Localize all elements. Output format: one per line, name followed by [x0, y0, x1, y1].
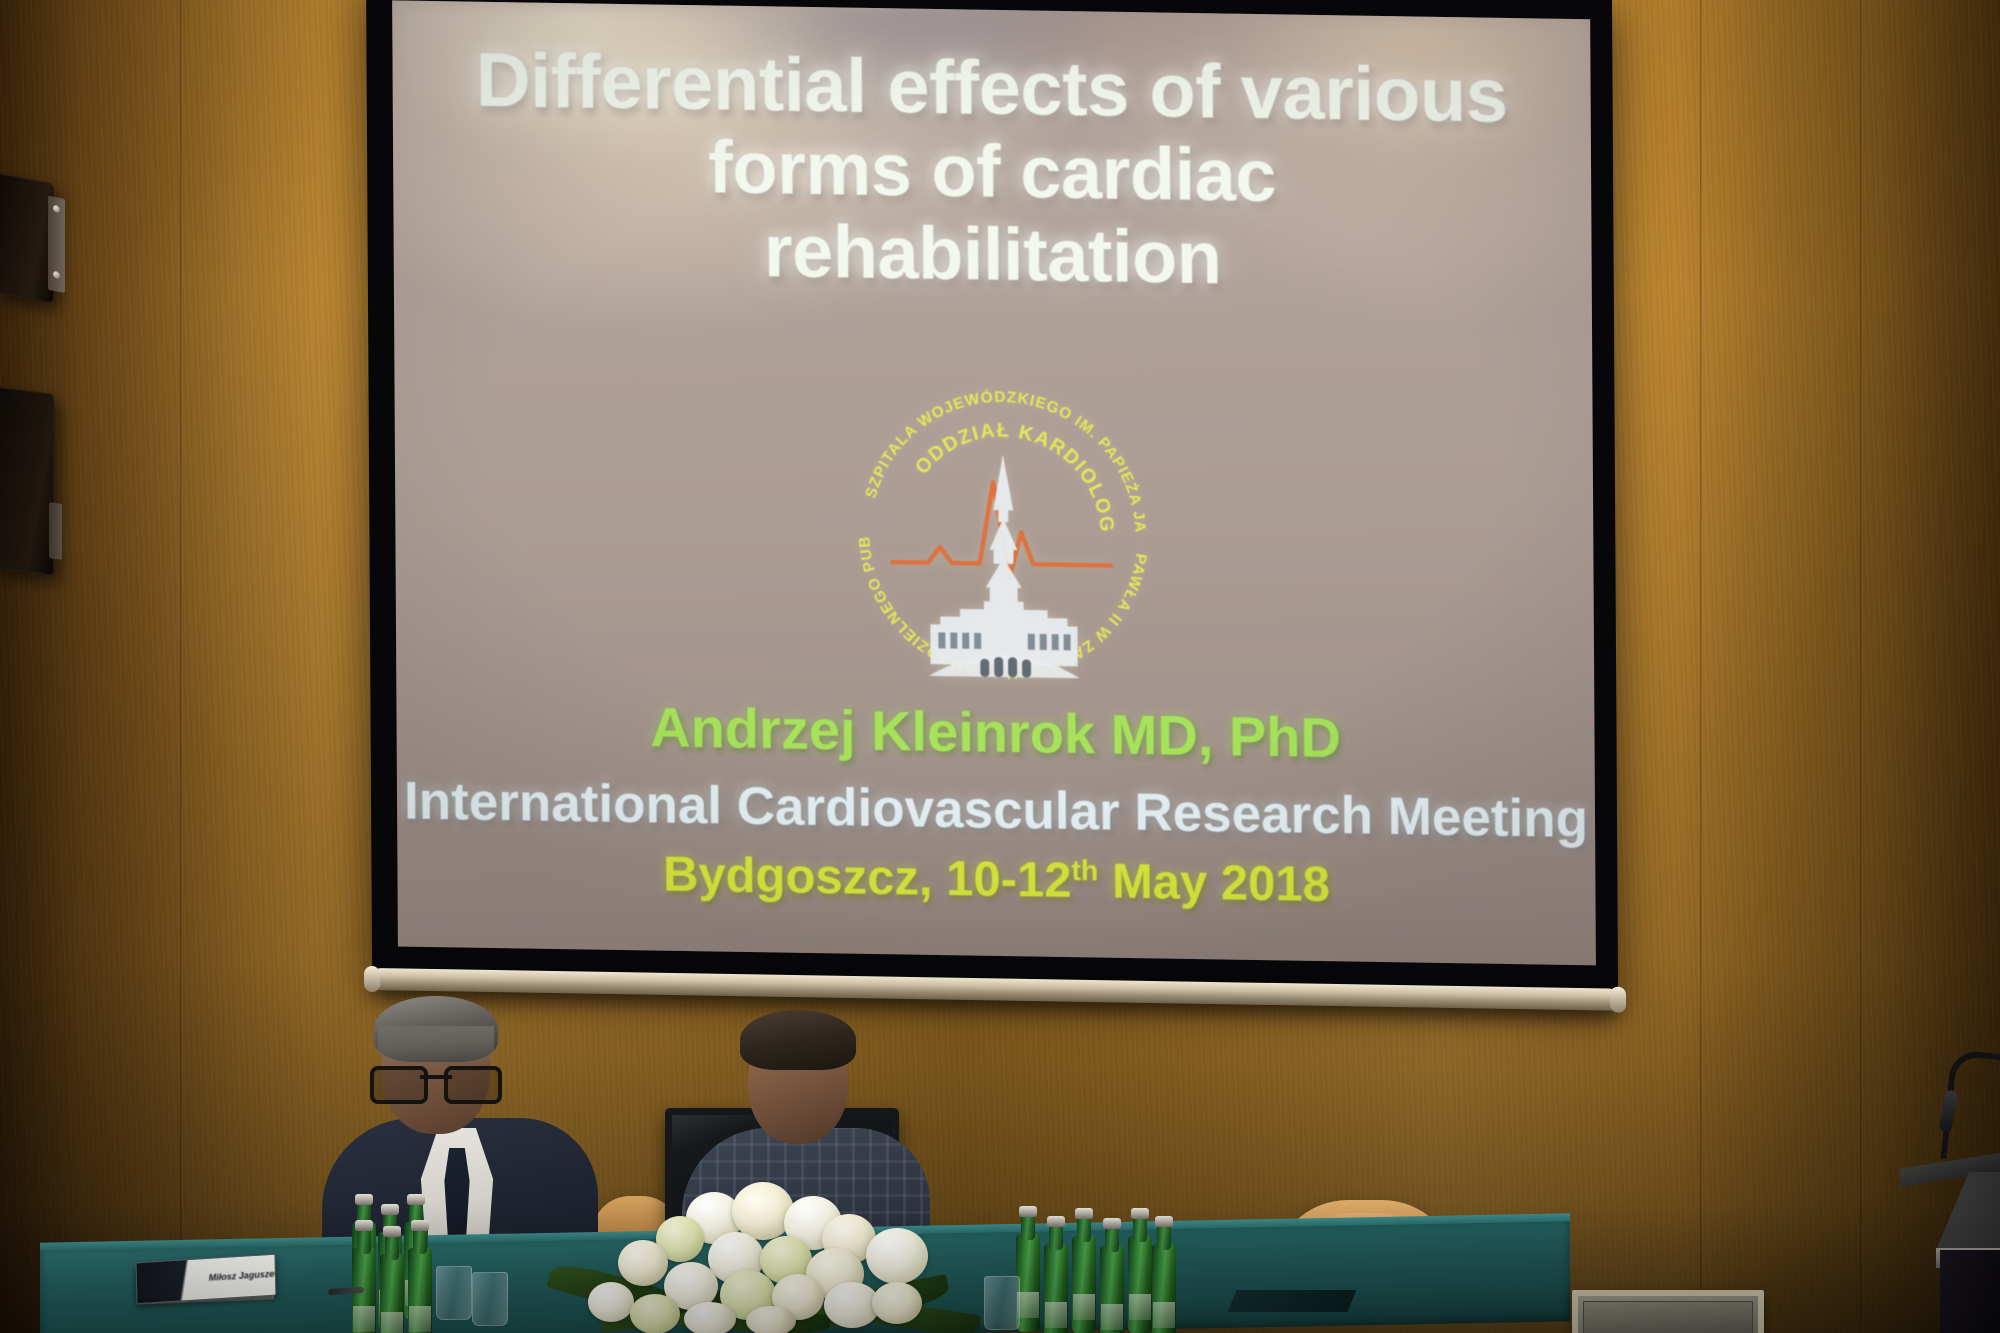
bottle-label: [1101, 1304, 1123, 1330]
bottle-label: [1129, 1294, 1151, 1320]
nameplate-logo: [143, 1266, 186, 1295]
water-bottle: [1044, 1244, 1068, 1333]
nameplate-name: Miłosz Jaguszewski: [209, 1267, 277, 1282]
roller-end-cap: [1610, 987, 1626, 1013]
water-bottle: [1152, 1244, 1176, 1333]
bottle-label: [409, 1306, 431, 1332]
lectern-body: [1936, 1172, 2000, 1250]
speaker-bracket: [48, 196, 65, 293]
picture-frame: [1572, 1290, 1764, 1333]
slide-event-name: International Cardiovascular Research Me…: [397, 770, 1595, 850]
bracket-screw: [53, 271, 60, 279]
white-rose: [684, 1302, 736, 1333]
calla-lily: [866, 1228, 928, 1284]
flower-arrangement: [560, 1170, 980, 1333]
screen-surface: Differential effects of various forms of…: [392, 0, 1596, 965]
slide-title-line-3: rehabilitation: [439, 205, 1545, 305]
bottle-label: [353, 1306, 375, 1332]
drinking-glass: [984, 1276, 1020, 1330]
projection-screen: Differential effects of various forms of…: [366, 0, 1618, 994]
conference-photo-scene: Differential effects of various forms of…: [0, 0, 2000, 1333]
water-bottle: [380, 1254, 404, 1333]
white-rose: [618, 1240, 668, 1286]
slide-place-prefix: Bydgoszcz, 10-12: [663, 848, 1072, 908]
logo-inner-arc-text: ODDZIAŁ KARDIOLOGII: [840, 363, 1118, 534]
slide-title-line-1: Differential effects of various: [438, 37, 1544, 139]
white-rose: [630, 1294, 680, 1333]
bottle-label: [381, 1312, 403, 1333]
bracket-screw: [53, 205, 60, 213]
picture-frame-inner: [1583, 1301, 1753, 1333]
slide-title: Differential effects of various forms of…: [392, 36, 1592, 306]
roller-end-cap: [364, 966, 380, 992]
drinking-glass: [472, 1272, 508, 1326]
white-rose: [746, 1306, 796, 1333]
hair: [374, 996, 498, 1062]
bottle-label: [1153, 1302, 1175, 1328]
dark-paper-item: [1228, 1290, 1357, 1312]
white-rose: [872, 1282, 922, 1324]
eyeglass-bridge: [420, 1075, 452, 1079]
speaker-bracket: [49, 502, 62, 560]
slide-place-suffix: May 2018: [1098, 855, 1330, 913]
water-bottle: [1128, 1236, 1152, 1333]
hair: [740, 1010, 856, 1070]
water-bottle: [1072, 1236, 1096, 1333]
dark-object-right: [1940, 1250, 2000, 1333]
eyeglass-lens-right: [444, 1066, 502, 1104]
slide-place-ordinal: th: [1071, 855, 1098, 887]
slide-presenter-name: Andrzej Kleinrok MD, PhD: [396, 690, 1594, 774]
water-bottle: [408, 1248, 432, 1333]
bottle-label: [1073, 1294, 1095, 1320]
loudspeaker-lower: [0, 386, 54, 576]
hospital-logo: SZPITALA WOJEWÓDZKIEGO IM. PAPIEŻA JANA …: [843, 380, 1163, 685]
bottle-label: [1017, 1292, 1039, 1318]
bottle-label: [1045, 1302, 1067, 1328]
eyeglasses: [370, 1066, 502, 1098]
slide-place-date: Bydgoszcz, 10-12th May 2018: [397, 843, 1595, 918]
name-plate: Miłosz Jaguszewski: [136, 1254, 277, 1305]
loudspeaker-upper: [0, 172, 54, 304]
drinking-glass: [436, 1266, 472, 1320]
presentation-slide: Differential effects of various forms of…: [392, 0, 1596, 965]
eyeglass-lens-left: [370, 1066, 428, 1104]
water-bottle: [1100, 1246, 1124, 1333]
calla-lily: [588, 1282, 634, 1322]
